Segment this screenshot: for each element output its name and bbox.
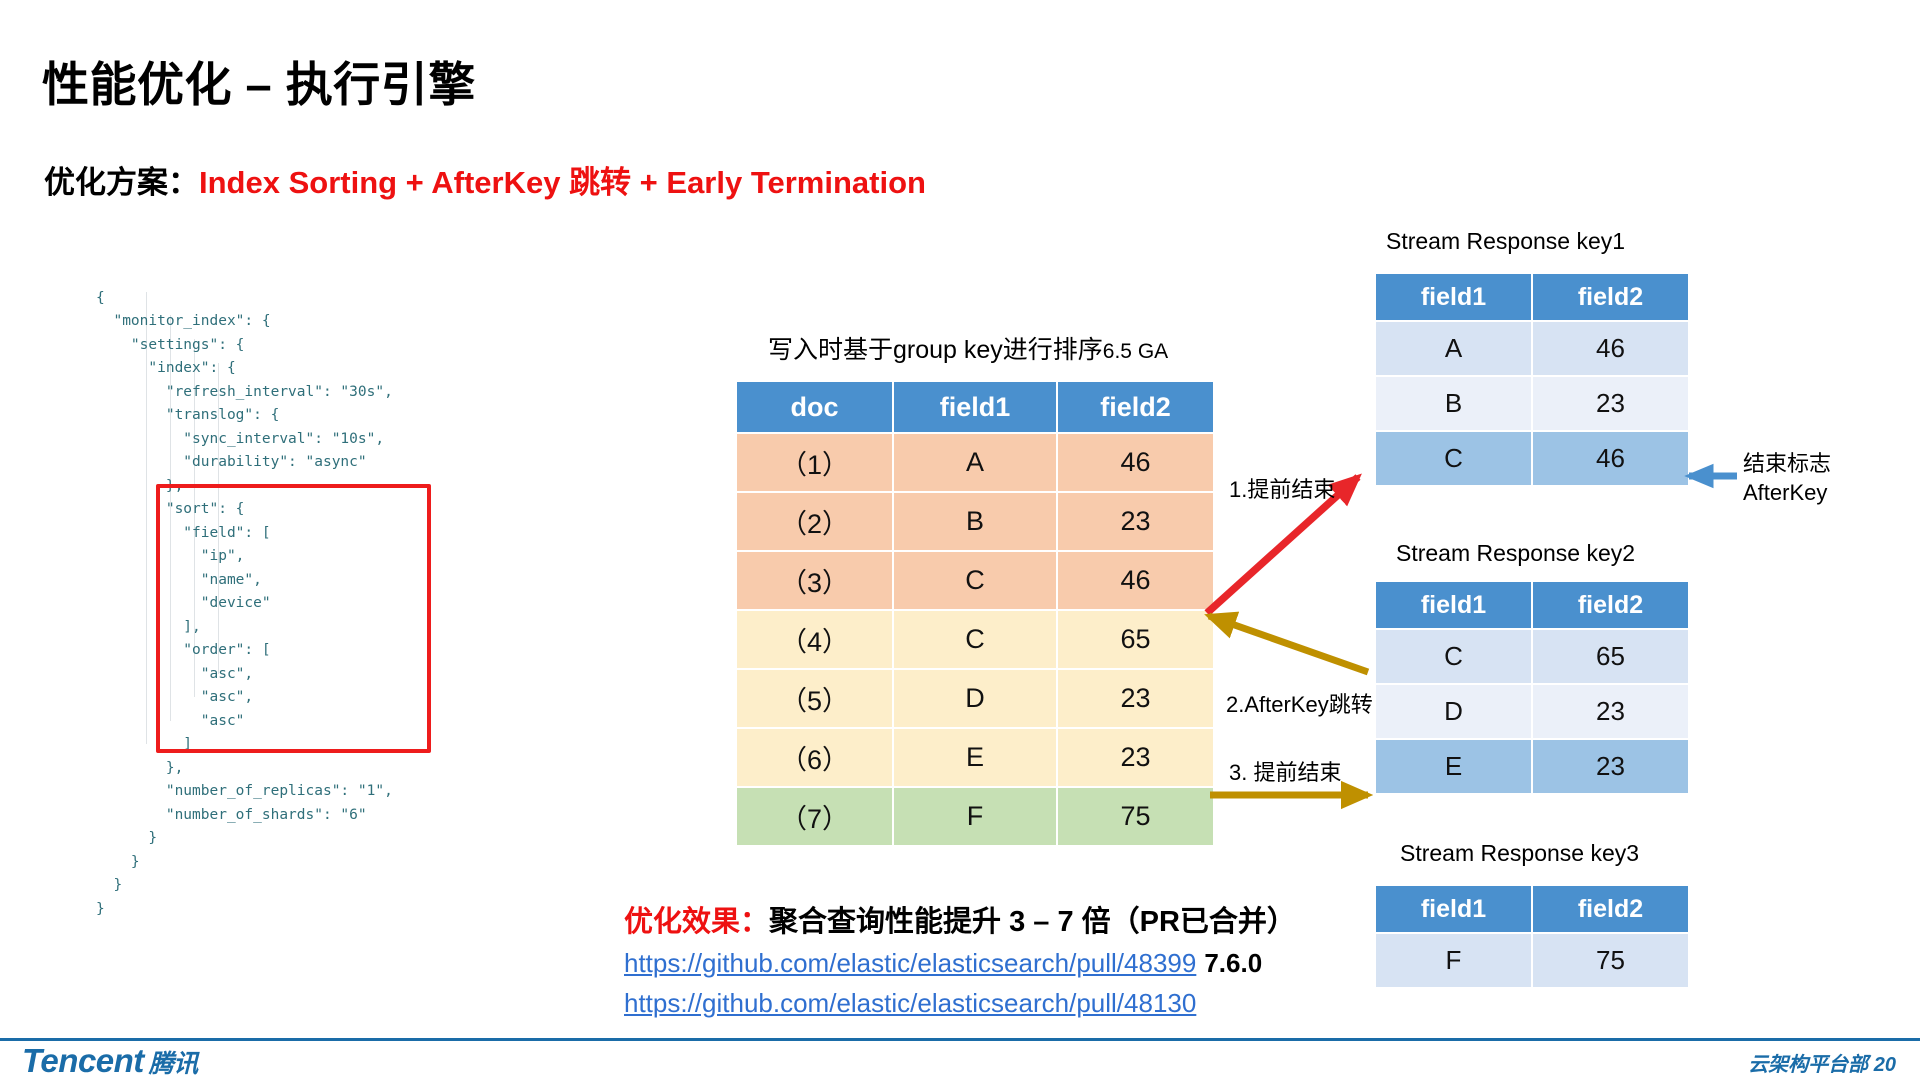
annotation-step-3: 3. 提前结束 (1229, 755, 1341, 787)
cell-field1: C (1376, 432, 1531, 485)
cell-field2: 46 (1058, 434, 1213, 491)
cell-field1: F (894, 788, 1056, 845)
cell-field1: A (894, 434, 1056, 491)
table-row: C 65 (1376, 630, 1688, 683)
version-badge: 7.6.0 (1204, 948, 1262, 978)
table-row: E 23 (1376, 740, 1688, 793)
tencent-logo-text: Tencent (22, 1042, 144, 1079)
table-header-row: field1 field2 (1376, 886, 1688, 932)
table-row: （3） C 46 (737, 552, 1213, 609)
annotation-afterkey-marker: 结束标志 AfterKey (1743, 449, 1831, 507)
main-table-caption-cn: 写入时基于group key进行排序 (768, 336, 1103, 364)
pull-request-link-row-1: https://github.com/elastic/elasticsearch… (624, 948, 1262, 979)
cell-field2: 65 (1533, 630, 1688, 683)
afterkey-label-line1: 结束标志 (1743, 449, 1831, 478)
column-header-field1: field1 (1376, 886, 1531, 932)
cell-doc: （2） (737, 493, 892, 550)
subtitle-label: 优化方案： (44, 165, 199, 200)
table-row: B 23 (1376, 377, 1688, 430)
cell-field2: 23 (1533, 377, 1688, 430)
cell-field1: C (894, 611, 1056, 668)
cell-field2: 75 (1533, 934, 1688, 987)
arrow-afterkey-jump (1209, 616, 1368, 672)
subtitle-value: Index Sorting + AfterKey 跳转 + Early Term… (199, 165, 926, 200)
cell-field2: 23 (1058, 729, 1213, 786)
column-header-field2: field2 (1058, 382, 1213, 432)
stream-response-key1-table: field1 field2 A 46 B 23 C 46 (1374, 272, 1690, 487)
table-row: （2） B 23 (737, 493, 1213, 550)
cell-field2: 46 (1058, 552, 1213, 609)
stream-response-key3-caption: Stream Response key3 (1400, 840, 1639, 867)
pull-request-link-48130[interactable]: https://github.com/elastic/elasticsearch… (624, 988, 1196, 1018)
cell-doc: （6） (737, 729, 892, 786)
result-text: 聚合查询性能提升 3 – 7 倍（PR已合并） (769, 906, 1296, 938)
cell-doc: （4） (737, 611, 892, 668)
annotation-step-1: 1.提前结束 (1229, 472, 1335, 504)
main-table-caption: 写入时基于group key进行排序6.5 GA (768, 330, 1168, 366)
table-row: （6） E 23 (737, 729, 1213, 786)
cell-doc: （3） (737, 552, 892, 609)
cell-field2: 75 (1058, 788, 1213, 845)
afterkey-label-line2: AfterKey (1743, 478, 1831, 507)
pull-request-link-row-2: https://github.com/elastic/elasticsearch… (624, 988, 1196, 1019)
annotation-step-2: 2.AfterKey跳转 (1226, 687, 1373, 719)
cell-field2: 23 (1533, 740, 1688, 793)
cell-field2: 46 (1533, 432, 1688, 485)
table-row: D 23 (1376, 685, 1688, 738)
footer-department-and-page: 云架构平台部 20 (1748, 1048, 1896, 1077)
cell-doc: （5） (737, 670, 892, 727)
cell-doc: （7） (737, 788, 892, 845)
cell-field1: E (894, 729, 1056, 786)
tencent-logo: Tencent腾讯 (22, 1042, 198, 1080)
subtitle: 优化方案：Index Sorting + AfterKey 跳转 + Early… (44, 157, 926, 202)
table-row: （1） A 46 (737, 434, 1213, 491)
table-row: （5） D 23 (737, 670, 1213, 727)
cell-field1: A (1376, 322, 1531, 375)
column-header-field2: field2 (1533, 582, 1688, 628)
table-row: C 46 (1376, 432, 1688, 485)
table-row: （4） C 65 (737, 611, 1213, 668)
cell-field1: B (1376, 377, 1531, 430)
main-table-caption-version: 6.5 GA (1103, 340, 1168, 363)
cell-field1: C (1376, 630, 1531, 683)
cell-field1: F (1376, 934, 1531, 987)
doc-table: doc field1 field2 （1） A 46 （2） B 23 （3） … (735, 380, 1215, 847)
column-header-field1: field1 (894, 382, 1056, 432)
page-title: 性能优化 – 执行引擎 (42, 46, 476, 115)
stream-response-key2-table: field1 field2 C 65 D 23 E 23 (1374, 580, 1690, 795)
cell-doc: （1） (737, 434, 892, 491)
column-header-doc: doc (737, 382, 892, 432)
table-header-row: field1 field2 (1376, 582, 1688, 628)
table-row: F 75 (1376, 934, 1688, 987)
table-header-row: field1 field2 (1376, 274, 1688, 320)
stream-response-key3-table: field1 field2 F 75 (1374, 884, 1690, 989)
tencent-logo-cn: 腾讯 (149, 1050, 198, 1078)
cell-field1: D (894, 670, 1056, 727)
cell-field2: 65 (1058, 611, 1213, 668)
cell-field1: B (894, 493, 1056, 550)
footer-divider (0, 1038, 1920, 1041)
stream-response-key1-caption: Stream Response key1 (1386, 228, 1625, 255)
pull-request-link-48399[interactable]: https://github.com/elastic/elasticsearch… (624, 948, 1196, 978)
cell-field2: 23 (1058, 670, 1213, 727)
table-header-row: doc field1 field2 (737, 382, 1213, 432)
column-header-field1: field1 (1376, 582, 1531, 628)
cell-field2: 23 (1533, 685, 1688, 738)
cell-field1: E (1376, 740, 1531, 793)
column-header-field2: field2 (1533, 274, 1688, 320)
table-row: A 46 (1376, 322, 1688, 375)
cell-field2: 23 (1058, 493, 1213, 550)
column-header-field2: field2 (1533, 886, 1688, 932)
cell-field2: 46 (1533, 322, 1688, 375)
result-label: 优化效果： (624, 906, 769, 938)
stream-response-key2-caption: Stream Response key2 (1396, 540, 1635, 567)
cell-field1: C (894, 552, 1056, 609)
table-row: （7） F 75 (737, 788, 1213, 845)
column-header-field1: field1 (1376, 274, 1531, 320)
optimization-result: 优化效果：聚合查询性能提升 3 – 7 倍（PR已合并） (624, 898, 1296, 940)
cell-field1: D (1376, 685, 1531, 738)
index-settings-json: { "monitor_index": { "settings": { "inde… (96, 287, 393, 922)
